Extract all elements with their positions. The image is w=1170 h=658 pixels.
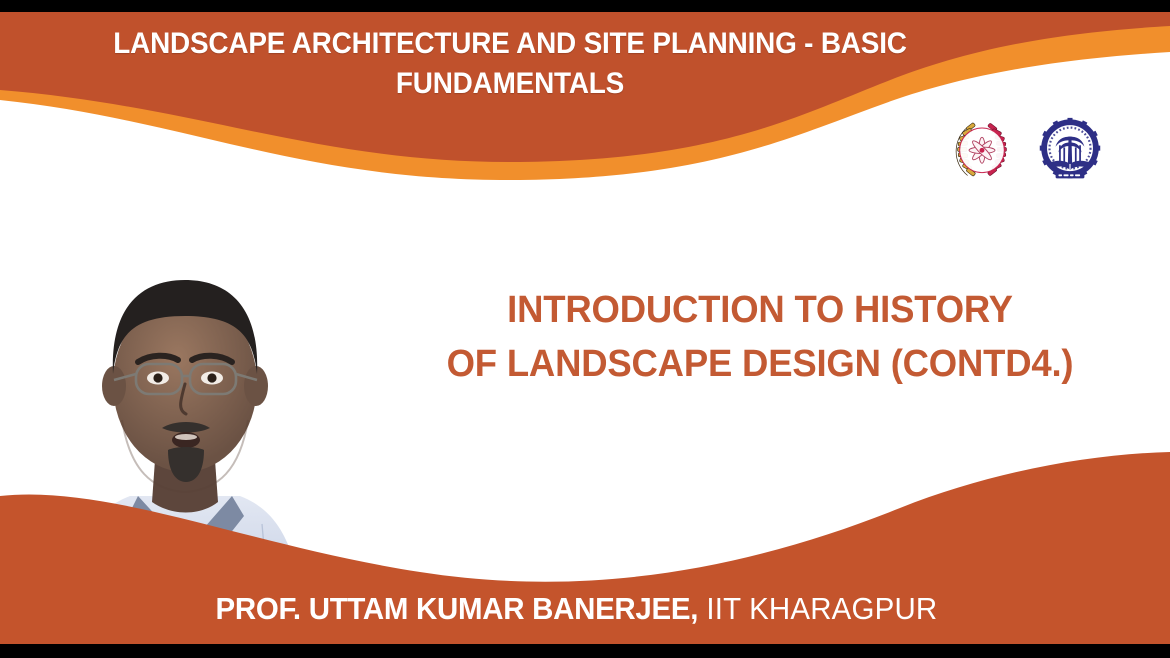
nptel-logo [946, 110, 1018, 192]
slide-stage: LANDSCAPE ARCHITECTURE AND SITE PLANNING… [0, 12, 1170, 644]
presenter-name-text: PROF. UTTAM KUMAR BANERJEE, [216, 591, 699, 626]
presenter-affiliation-text: IIT KHARAGPUR [706, 591, 937, 626]
lecture-title: INTRODUCTION TO HISTORY OF LANDSCAPE DES… [395, 284, 1125, 392]
course-header-title: LANDSCAPE ARCHITECTURE AND SITE PLANNING… [36, 24, 985, 104]
course-header-line-2: FUNDAMENTALS [36, 64, 985, 104]
lecture-title-line-1: INTRODUCTION TO HISTORY [395, 284, 1125, 338]
letterbox-top [0, 0, 1170, 12]
iit-kharagpur-logo [1034, 110, 1106, 192]
lecture-title-slide: LANDSCAPE ARCHITECTURE AND SITE PLANNING… [0, 0, 1170, 658]
presenter-name-strip: PROF. UTTAM KUMAR BANERJEE, IIT KHARAGPU… [29, 592, 1141, 626]
course-header-line-1: LANDSCAPE ARCHITECTURE AND SITE PLANNING… [36, 24, 985, 64]
lecture-title-line-2: OF LANDSCAPE DESIGN (CONTD4.) [395, 338, 1125, 392]
presenter-video-portrait [10, 224, 360, 644]
letterbox-bottom [0, 644, 1170, 658]
institution-logos [946, 110, 1106, 192]
